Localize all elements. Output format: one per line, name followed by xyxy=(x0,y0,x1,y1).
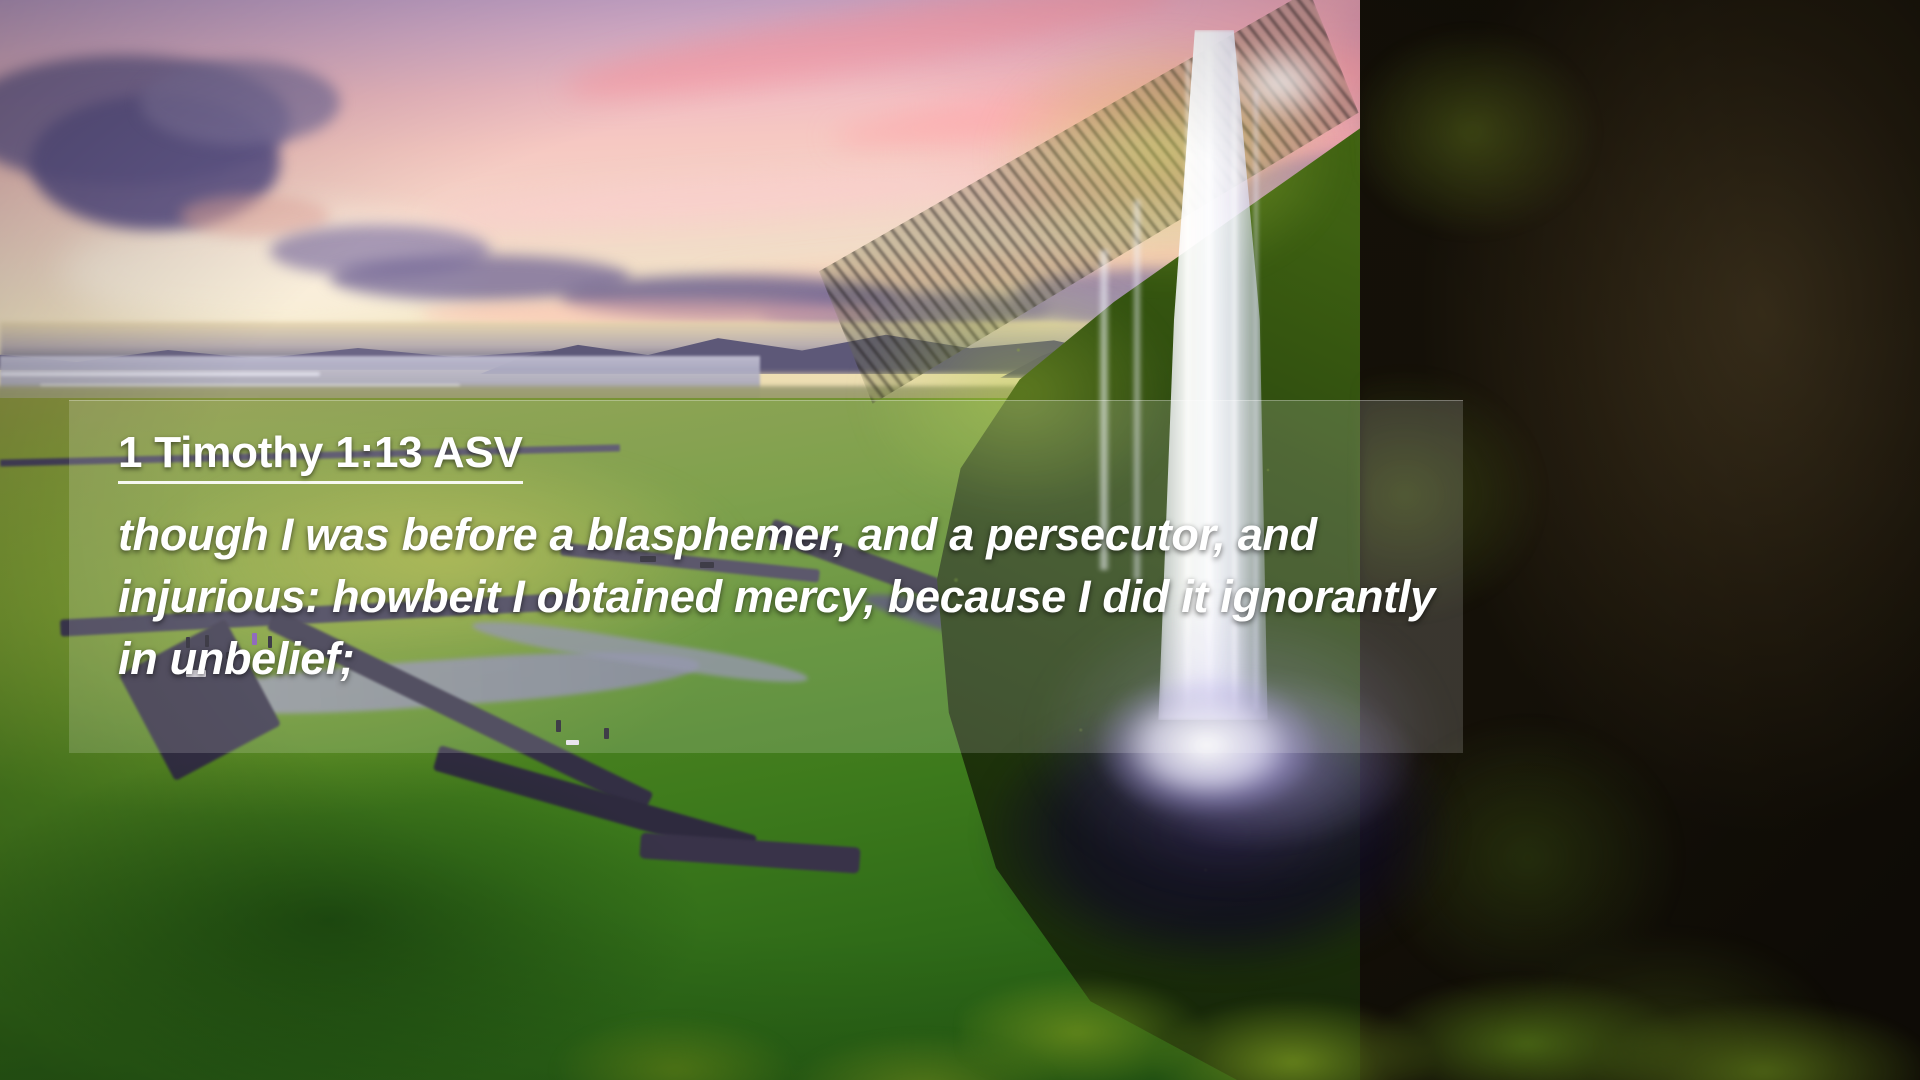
verse-text: though I was before a blasphemer, and a … xyxy=(118,504,1463,690)
verse-reference: 1 Timothy 1:13 ASV xyxy=(118,396,523,484)
verse-content: 1 Timothy 1:13 ASV though I was before a… xyxy=(118,396,1478,690)
verse-overlay-panel: 1 Timothy 1:13 ASV though I was before a… xyxy=(69,400,1463,753)
verse-image-canvas: 1 Timothy 1:13 ASV though I was before a… xyxy=(0,0,1920,1080)
